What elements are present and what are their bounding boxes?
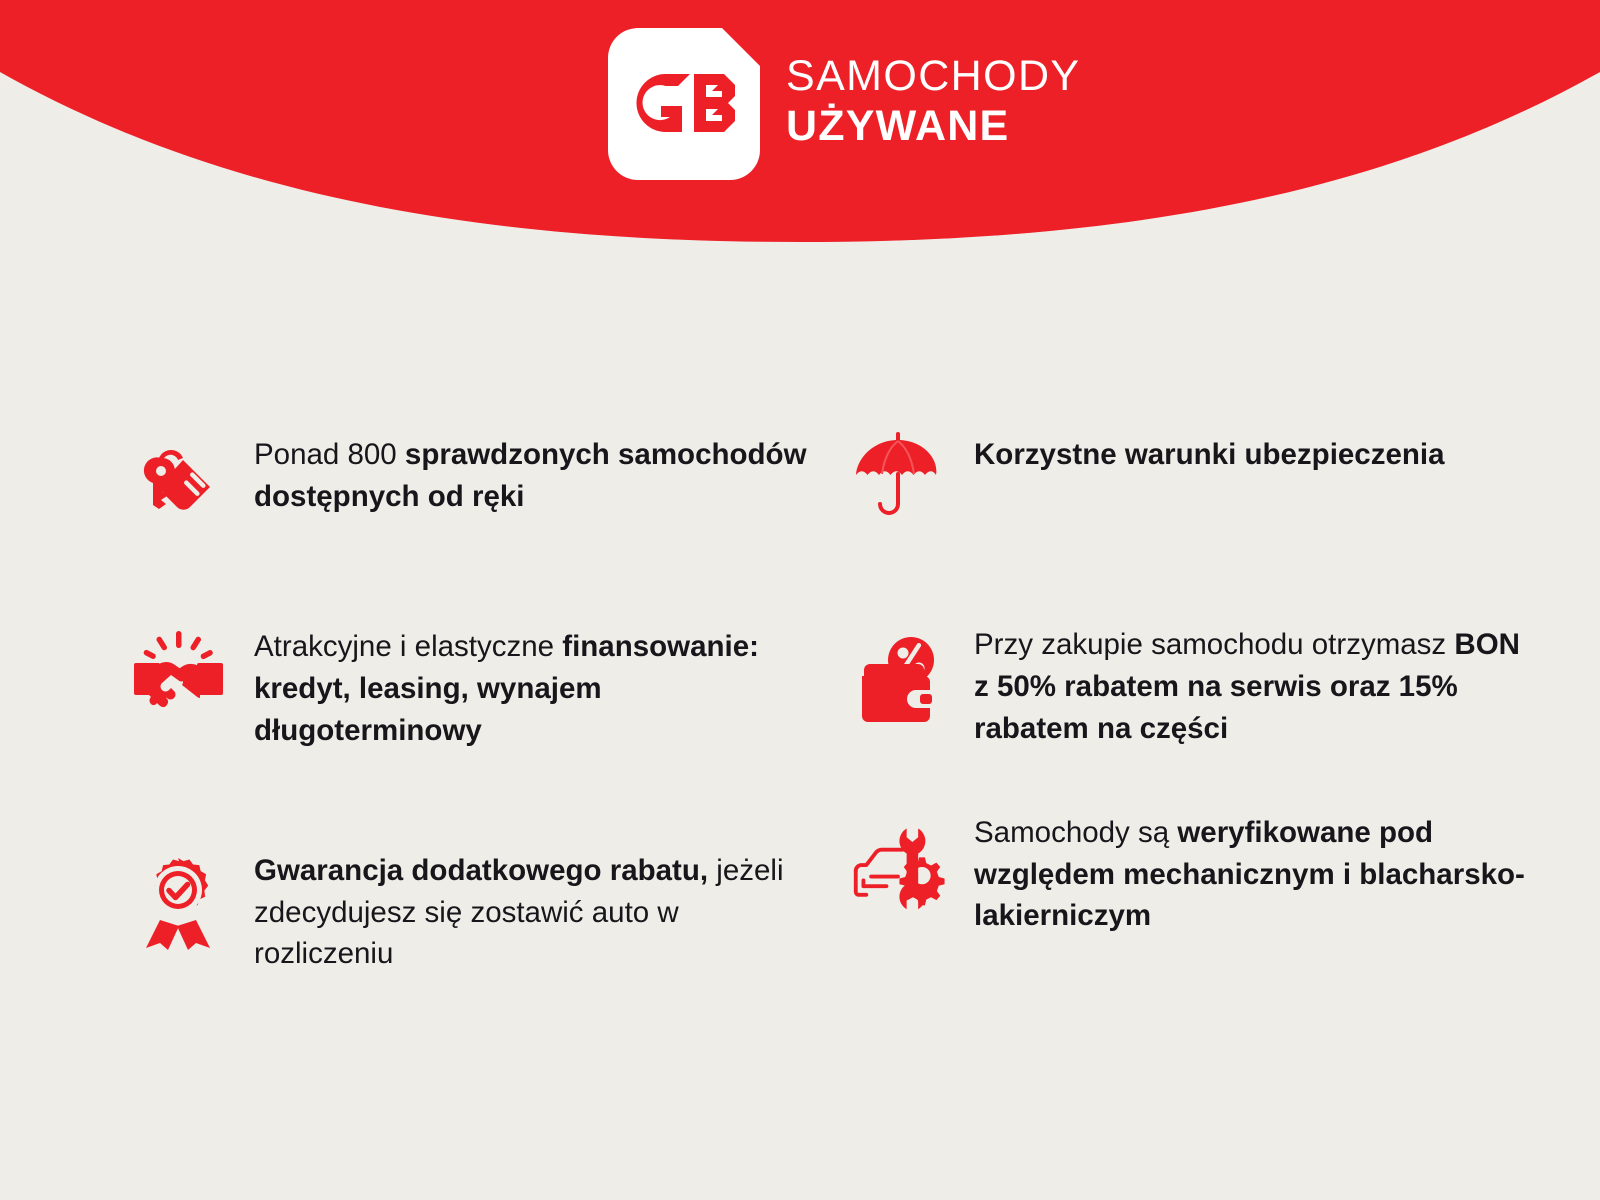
feature-text: Korzystne warunki ubezpieczenia — [974, 430, 1445, 476]
feature-text: Samochody są weryfikowane pod względem m… — [974, 808, 1534, 938]
wordmark-line-1: SAMOCHODY — [786, 55, 1081, 98]
feature-text: Atrakcyjne i elastyczne finansowanie: kr… — [254, 622, 814, 752]
award-badge-icon — [130, 854, 226, 950]
feature-text: Gwarancja dodatkowego rabatu, jeżeli zde… — [254, 846, 814, 976]
page-header: SAMOCHODY UŻYWANE — [0, 0, 1600, 260]
car-wrench-gear-icon — [850, 818, 946, 914]
feature-text: Przy zakupie samochodu otrzymasz BON z 5… — [974, 620, 1534, 750]
handshake-icon — [130, 624, 226, 720]
wallet-percent-icon — [850, 634, 946, 730]
wordmark-line-2: UŻYWANE — [786, 105, 1081, 148]
feature-grid: Ponad 800 sprawdzonych samochodów dostęp… — [0, 430, 1600, 975]
feature-item-financing: Atrakcyjne i elastyczne finansowanie: kr… — [130, 622, 850, 752]
feature-item-insurance: Korzystne warunki ubezpieczenia — [850, 430, 1570, 522]
feature-item-service-voucher: Przy zakupie samochodu otrzymasz BON z 5… — [850, 620, 1570, 750]
gb-logo-tile — [608, 28, 760, 180]
feature-column-right: Korzystne warunki ubezpieczenia — [850, 430, 1570, 975]
brand-wordmark: SAMOCHODY UŻYWANE — [786, 55, 1081, 154]
key-tag-icon — [130, 434, 226, 530]
feature-item-vehicle-inspection: Samochody są weryfikowane pod względem m… — [850, 808, 1570, 938]
feature-text: Ponad 800 sprawdzonych samochodów dostęp… — [254, 430, 814, 518]
umbrella-icon — [850, 426, 946, 522]
feature-item-trade-in-guarantee: Gwarancja dodatkowego rabatu, jeżeli zde… — [130, 846, 850, 976]
feature-item-available-cars: Ponad 800 sprawdzonych samochodów dostęp… — [130, 430, 850, 530]
feature-column-left: Ponad 800 sprawdzonych samochodów dostęp… — [130, 430, 850, 975]
brand-lockup: SAMOCHODY UŻYWANE — [608, 28, 1081, 180]
